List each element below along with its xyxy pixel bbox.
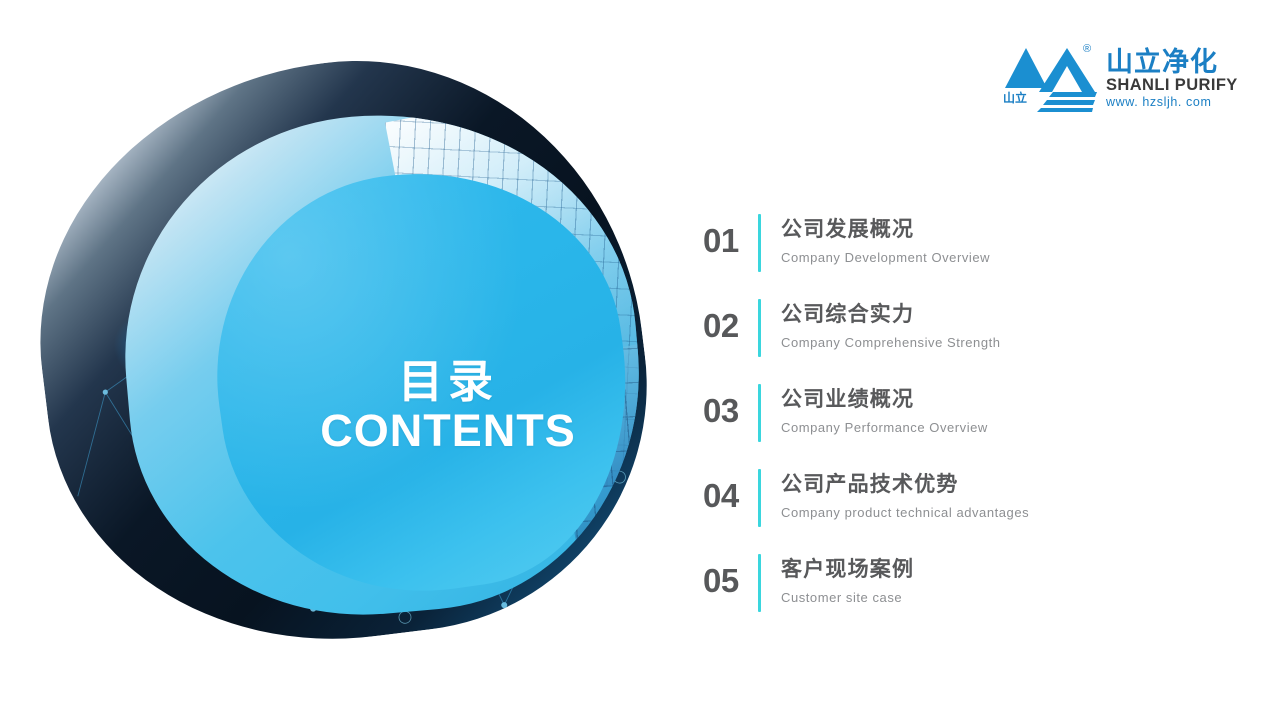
toc-divider <box>758 214 761 272</box>
logo-website-url: www. hzsljh. com <box>1106 95 1221 111</box>
toc-title-cn: 公司产品技术优势 <box>781 471 1223 499</box>
toc-title-en: Company Performance Overview <box>781 418 1223 439</box>
toc-title-en: Company product technical advantages <box>781 503 1223 524</box>
toc-number: 03 <box>703 394 758 431</box>
logo-brand-en: SHANLI PURIFY <box>1106 76 1221 95</box>
toc-item-02[interactable]: 02 公司综合实力 Company Comprehensive Strength <box>703 285 1223 370</box>
toc-item-01[interactable]: 01 公司发展概况 Company Development Overview <box>703 200 1223 285</box>
toc-title-en: Company Comprehensive Strength <box>781 333 1223 354</box>
toc-text-group: 公司综合实力 Company Comprehensive Strength <box>781 301 1223 353</box>
toc-number: 02 <box>703 309 758 346</box>
toc-divider <box>758 384 761 442</box>
registered-trademark-mark: ® <box>1083 44 1091 55</box>
center-title-en: CONTENTS <box>298 406 598 456</box>
toc-number: 05 <box>703 564 758 601</box>
center-title-cn: 目录 <box>298 355 598 408</box>
decorative-blob-graphic: 目录 CONTENTS <box>30 55 655 645</box>
toc-text-group: 公司产品技术优势 Company product technical advan… <box>781 471 1223 523</box>
toc-item-03[interactable]: 03 公司业绩概况 Company Performance Overview <box>703 370 1223 455</box>
contents-slide: 目录 CONTENTS ® 山立 山立净化 SHANLI PURIFY www.… <box>0 0 1280 720</box>
toc-title-cn: 公司发展概况 <box>781 216 1223 244</box>
toc-text-group: 公司发展概况 Company Development Overview <box>781 216 1223 268</box>
toc-title-cn: 公司综合实力 <box>781 301 1223 329</box>
toc-text-group: 公司业绩概况 Company Performance Overview <box>781 386 1223 438</box>
table-of-contents: 01 公司发展概况 Company Development Overview 0… <box>703 200 1223 625</box>
toc-divider <box>758 299 761 357</box>
toc-title-en: Company Development Overview <box>781 248 1223 269</box>
center-title-group: 目录 CONTENTS <box>298 355 598 456</box>
company-logo: ® 山立 山立净化 SHANLI PURIFY www. hzsljh. com <box>1003 38 1218 118</box>
toc-item-04[interactable]: 04 公司产品技术优势 Company product technical ad… <box>703 455 1223 540</box>
toc-item-05[interactable]: 05 客户现场案例 Customer site case <box>703 540 1223 625</box>
toc-title-en: Customer site case <box>781 588 1223 609</box>
toc-number: 01 <box>703 224 758 261</box>
toc-number: 04 <box>703 479 758 516</box>
toc-title-cn: 客户现场案例 <box>781 556 1223 584</box>
logo-brand-cn: 山立净化 <box>1106 48 1221 76</box>
toc-divider <box>758 554 761 612</box>
toc-title-cn: 公司业绩概况 <box>781 386 1223 414</box>
toc-text-group: 客户现场案例 Customer site case <box>781 556 1223 608</box>
logo-wordmark: 山立净化 SHANLI PURIFY www. hzsljh. com <box>1106 48 1221 111</box>
logo-mark-label-cn: 山立 <box>1003 92 1027 104</box>
toc-divider <box>758 469 761 527</box>
